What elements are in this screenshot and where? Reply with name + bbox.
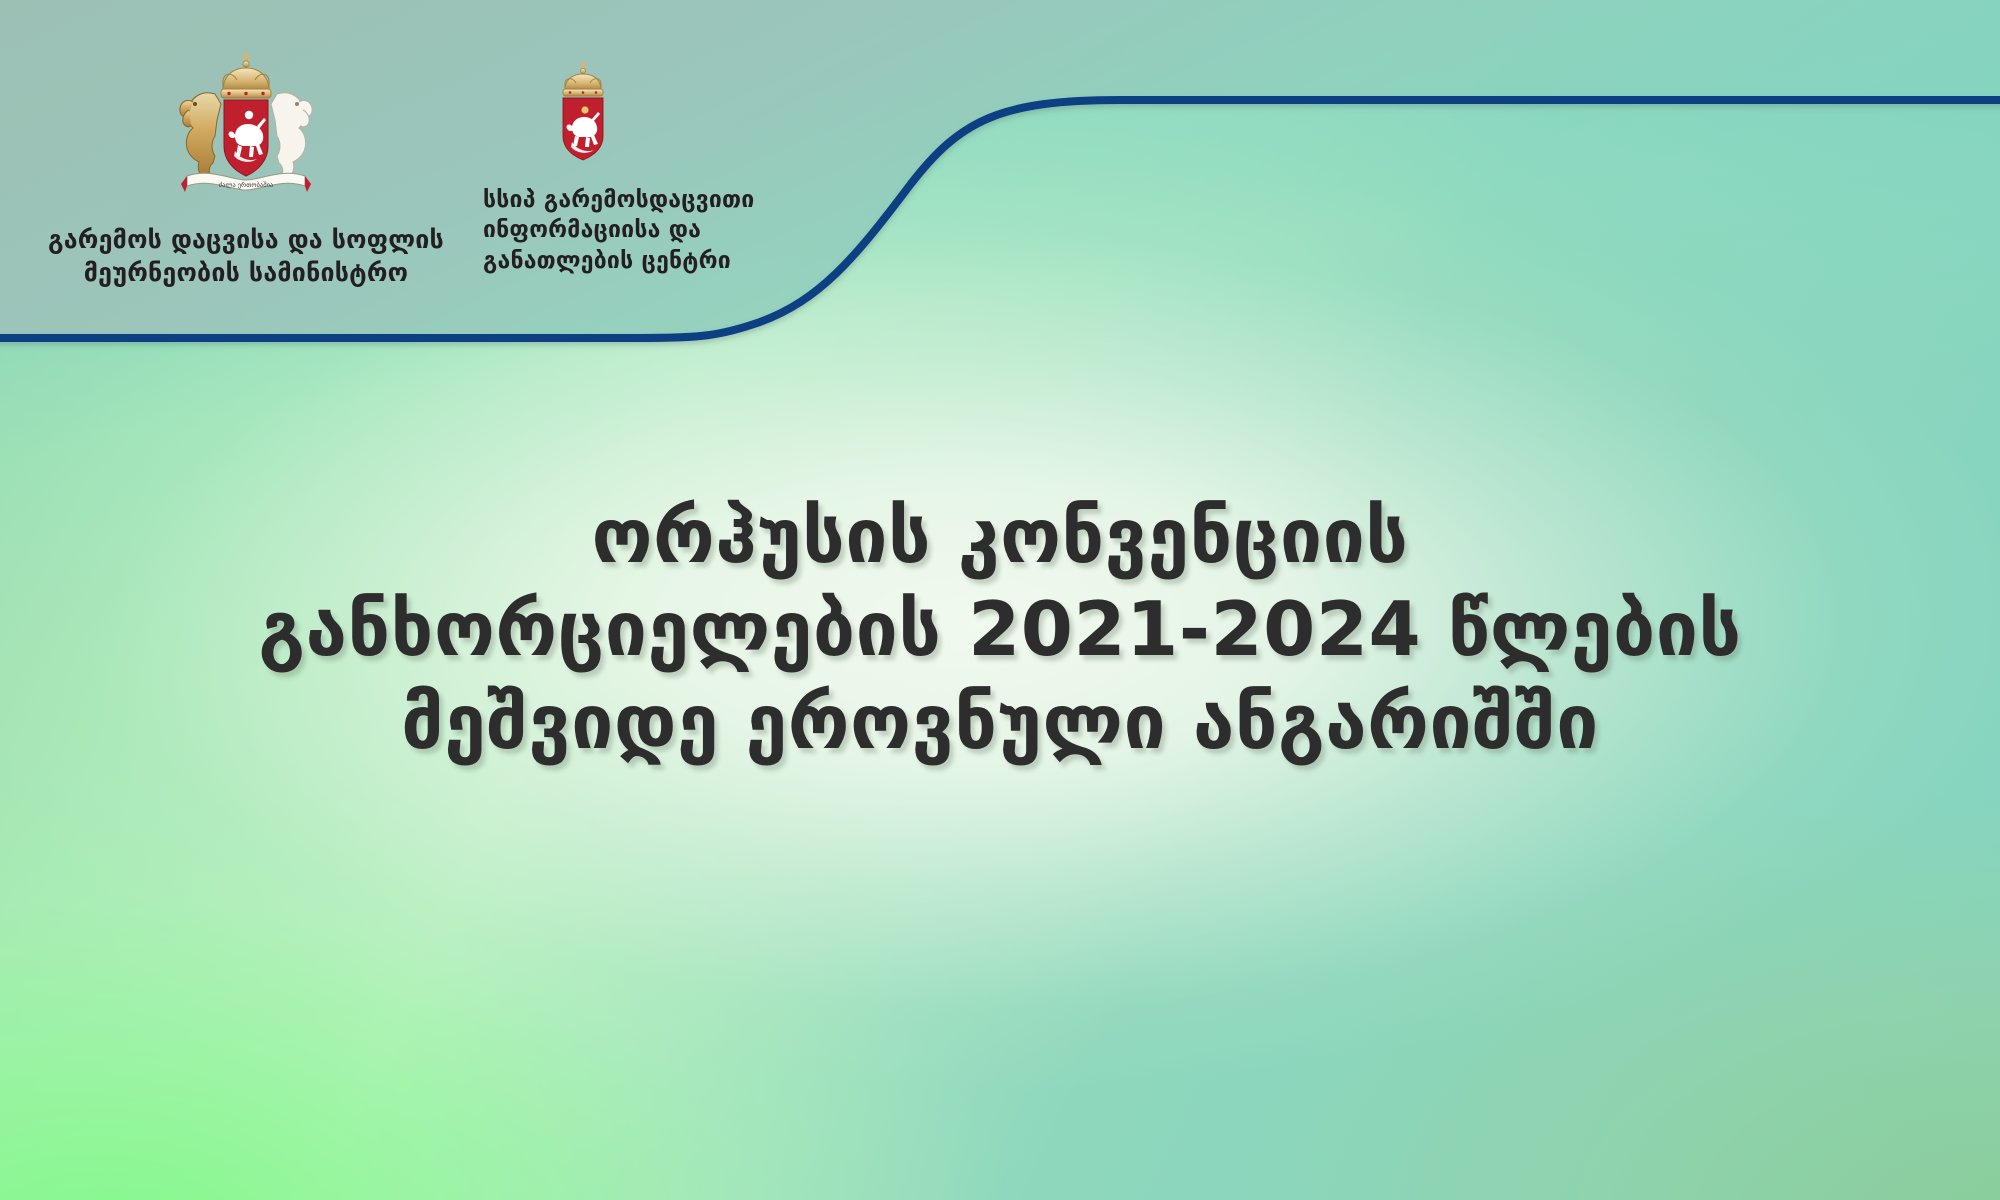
logo-center-caption-line2: ინფორმაციისა და [483, 217, 701, 243]
lion-right [271, 93, 312, 177]
georgia-coat-of-arms-icon: ძალა ერთობაშია [171, 46, 321, 210]
crown-icon [221, 52, 271, 98]
crown-icon [563, 61, 603, 96]
lion-left [180, 93, 221, 177]
georgia-small-coat-of-arms-icon [548, 58, 618, 167]
logo-row: ძალა ერთობაშია გარემოს დაცვისა და სოფლის… [0, 0, 1000, 340]
logo-center-caption: სსიპ გარემოსდაცვითი ინფორმაციისა და განა… [483, 185, 813, 276]
page-title-line-1: ორჰუსის კონვენციის [0, 490, 2000, 583]
page-title-line-3: მეშვიდე ეროვნული ანგარიშში [0, 676, 2000, 769]
logo-center-caption-line3: განათლების ცენტრი [483, 248, 731, 274]
report-cover-slide: ძალა ერთობაშია გარემოს დაცვისა და სოფლის… [0, 0, 2000, 1200]
logo-ministry-caption-line2: მეურნეობის სამინისტრო [84, 258, 408, 287]
logo-ministry-caption: გარემოს დაცვისა და სოფლის მეურნეობის სამ… [36, 224, 456, 289]
logo-center: სსიპ გარემოსდაცვითი ინფორმაციისა და განა… [478, 58, 808, 276]
page-title: ორჰუსის კონვენციის განხორციელების 2021-2… [0, 490, 2000, 769]
svg-text:ძალა ერთობაშია: ძალა ერთობაშია [219, 180, 273, 189]
shield-icon [224, 100, 268, 176]
shield-icon [563, 98, 603, 160]
logo-ministry-caption-line1: გარემოს დაცვისა და სოფლის [48, 225, 444, 254]
logo-ministry: ძალა ერთობაშია გარემოს დაცვისა და სოფლის… [36, 46, 456, 289]
page-title-line-2: განხორციელების 2021-2024 წლების [0, 583, 2000, 676]
logo-center-caption-line1: სსიპ გარემოსდაცვითი [483, 187, 754, 213]
